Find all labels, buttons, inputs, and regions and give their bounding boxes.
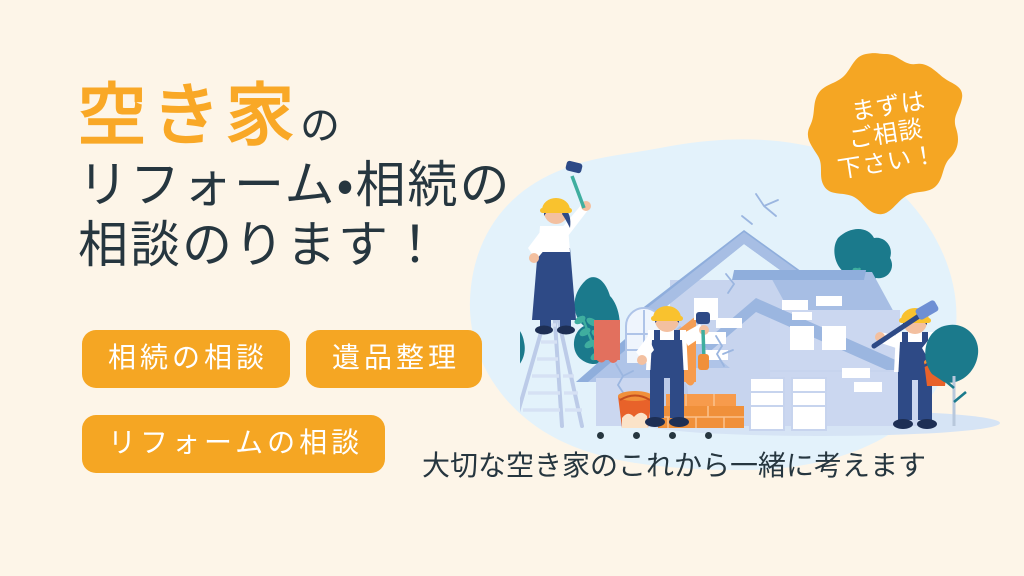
headline-accent-text: 空き家 — [78, 78, 300, 154]
service-pill-row-2: リフォームの相談 — [82, 415, 385, 473]
tagline-wrapper: 大切な空き家のこれから一緒に考えます — [422, 452, 926, 480]
service-pill-row-1: 相続の相談 遺品整理 — [82, 330, 482, 388]
banner-root: 空き家の リフォーム・相続の 相談のります！ 相続の相談 遺品整理 リフォームの… — [0, 0, 1024, 576]
headline-line-1-suffix: の — [300, 104, 340, 148]
emphasis-dots — [597, 432, 712, 439]
headline-line-1: 空き家の — [78, 82, 512, 150]
pill-inheritance-consult[interactable]: 相続の相談 — [82, 330, 290, 388]
emphasis-dot — [597, 432, 604, 439]
pill-reform-consult[interactable]: リフォームの相談 — [82, 415, 385, 473]
emphasis-dot — [705, 432, 712, 439]
emphasis-dot — [669, 432, 676, 439]
cta-badge[interactable]: まずは ご相談 下さい！ — [806, 52, 966, 218]
pill-estate-cleanup[interactable]: 遺品整理 — [306, 330, 482, 388]
badge-text-block: まずは ご相談 下さい！ — [794, 41, 978, 230]
tagline-text: 大切な空き家のこれから一緒に考えます — [422, 450, 926, 481]
emphasis-dot — [633, 432, 640, 439]
headline: 空き家の リフォーム・相続の 相談のります！ — [78, 82, 512, 280]
headline-line-3: 相談のります！ — [78, 220, 512, 270]
tagline: 大切な空き家のこれから一緒に考えます — [422, 452, 926, 480]
headline-line-2: リフォーム・相続の — [78, 160, 512, 210]
